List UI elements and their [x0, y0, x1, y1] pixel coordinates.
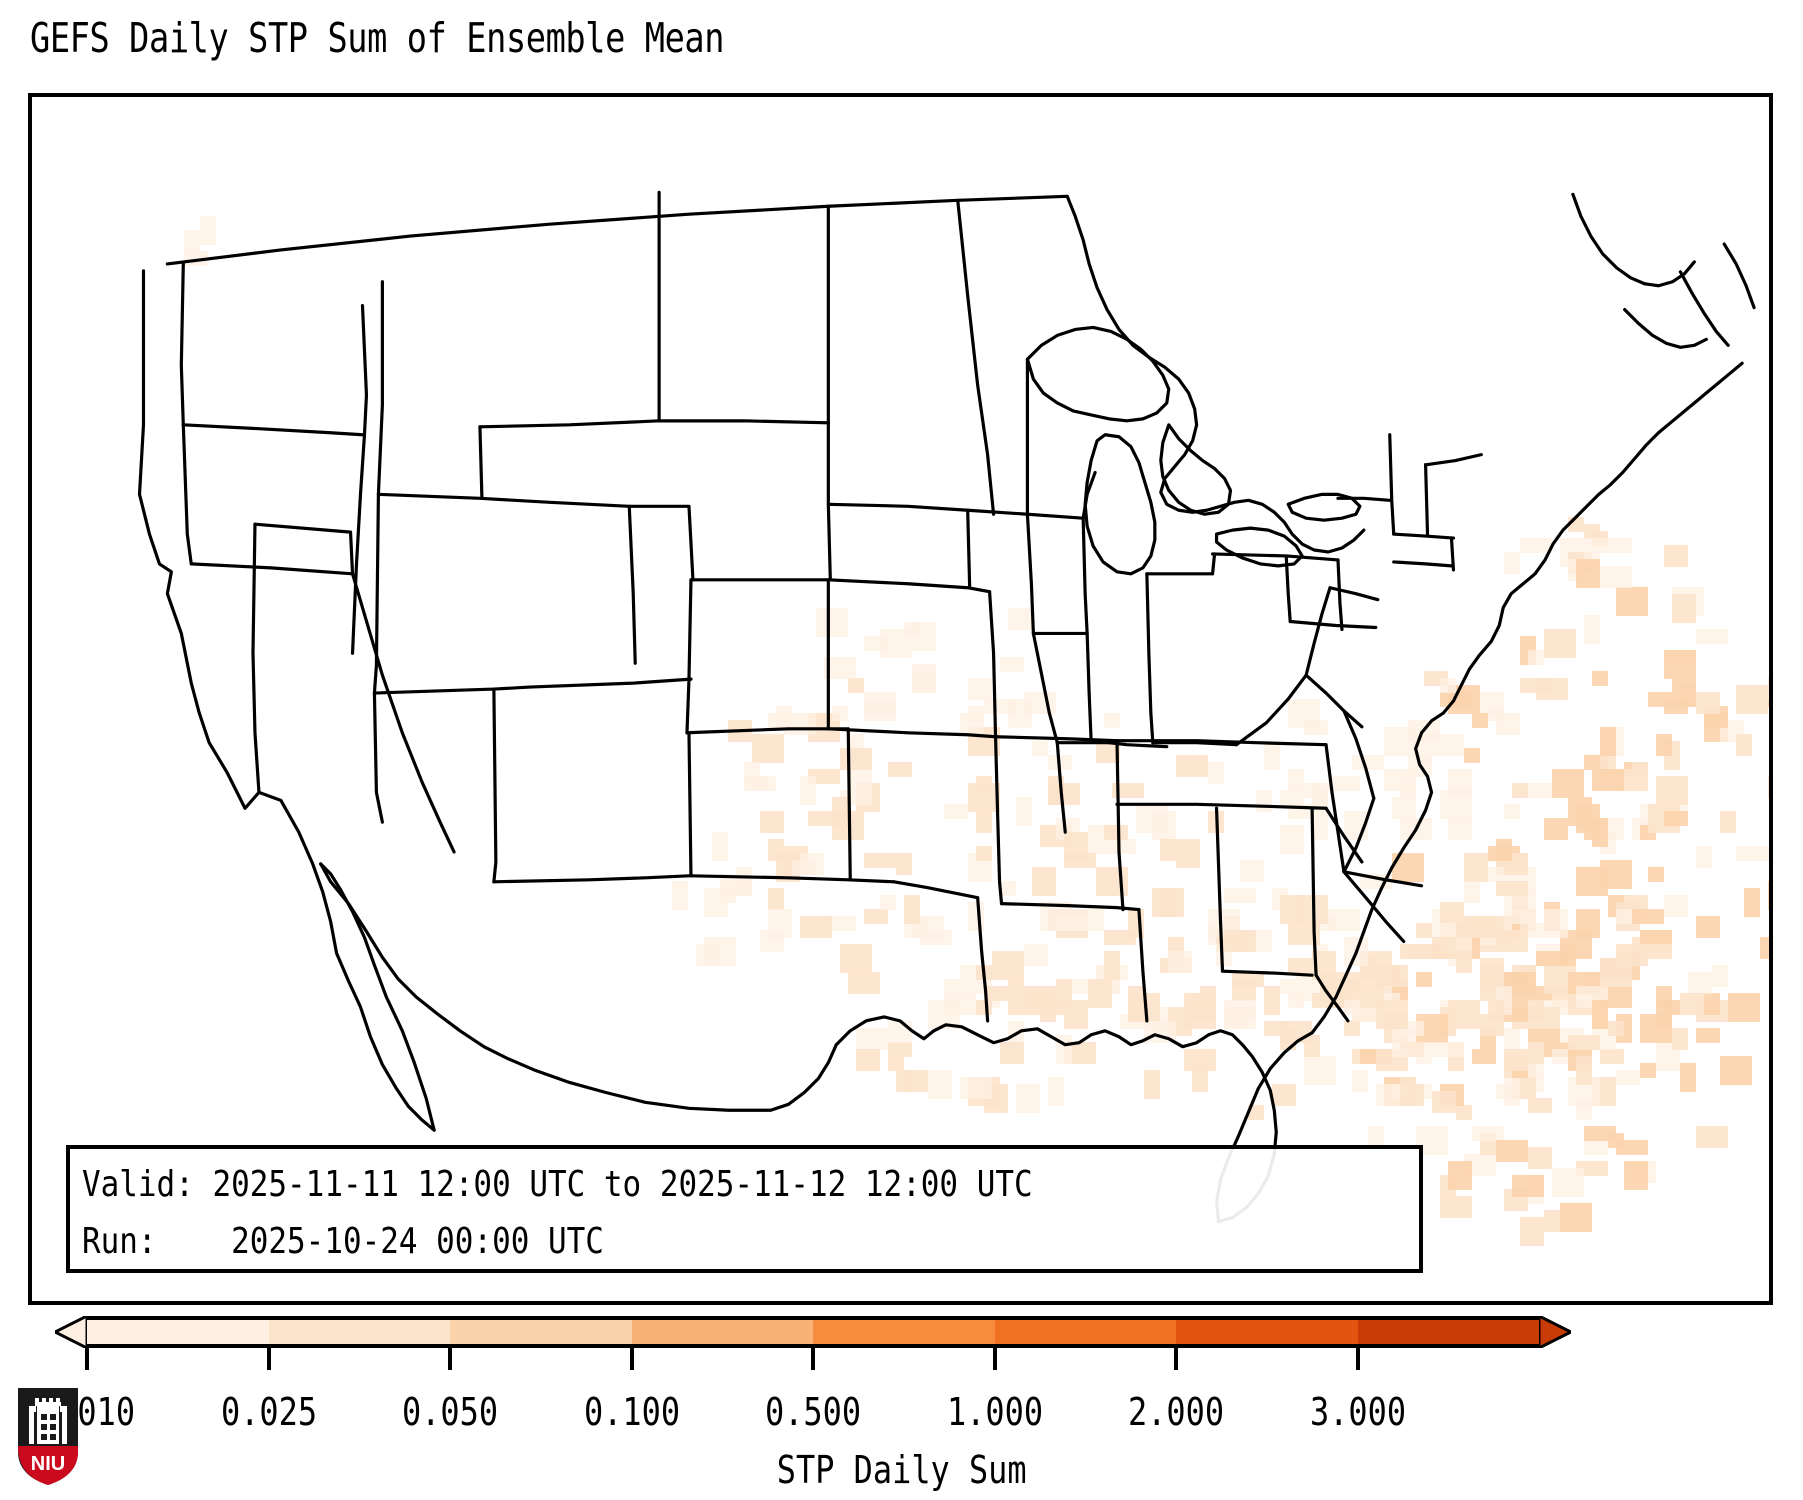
colorbar-tick-0	[85, 1348, 89, 1370]
colorbar-tick-6	[1174, 1348, 1178, 1370]
colorbar-band-3	[632, 1320, 814, 1344]
niu-logo-text: NIU	[31, 1453, 65, 1475]
colorbar-tick-label-1: 0.025	[220, 1390, 316, 1434]
colorbar-tick-label-4: 0.500	[765, 1390, 861, 1434]
colorbar-tick-1	[267, 1348, 271, 1370]
colorbar-tick-3	[630, 1348, 634, 1370]
colorbar-tick-label-7: 3.000	[1309, 1390, 1405, 1434]
page-title: GEFS Daily STP Sum of Ensemble Mean	[30, 14, 724, 62]
colorbar-band-4	[813, 1320, 995, 1344]
colorbar-axis-label: STP Daily Sum	[0, 1448, 1803, 1492]
colorbar-max-arrow	[1539, 1316, 1571, 1348]
colorbar-min-arrow	[55, 1316, 87, 1348]
colorbar	[0, 1316, 1803, 1376]
colorbar-band-1	[269, 1320, 451, 1344]
colorbar-ticks	[0, 1348, 1803, 1372]
colorbar-tick-5	[993, 1348, 997, 1370]
colorbar-tick-label-5: 1.000	[946, 1390, 1042, 1434]
colorbar-gradient	[87, 1316, 1539, 1348]
colorbar-band-7	[1358, 1320, 1540, 1344]
colorbar-tick-labels: 0.0100.0250.0500.1000.5001.0002.0003.000	[0, 1390, 1803, 1440]
colorbar-tick-4	[811, 1348, 815, 1370]
colorbar-tick-7	[1356, 1348, 1360, 1370]
colorbar-tick-label-2: 0.050	[402, 1390, 498, 1434]
colorbar-band-2	[450, 1320, 632, 1344]
valid-time-line: Valid: 2025-11-11 12:00 UTC to 2025-11-1…	[82, 1156, 1232, 1213]
map-frame	[28, 93, 1773, 1305]
map-geography	[32, 97, 1769, 1301]
colorbar-tick-label-3: 0.100	[583, 1390, 679, 1434]
run-time-line: Run: 2025-10-24 00:00 UTC	[82, 1213, 1232, 1270]
colorbar-band-5	[995, 1320, 1177, 1344]
colorbar-band-6	[1176, 1320, 1358, 1344]
niu-logo: NIU	[16, 1386, 80, 1486]
colorbar-tick-label-6: 2.000	[1128, 1390, 1224, 1434]
colorbar-band-0	[87, 1320, 269, 1344]
forecast-info-box: Valid: 2025-11-11 12:00 UTC to 2025-11-1…	[66, 1145, 1423, 1273]
colorbar-tick-2	[448, 1348, 452, 1370]
colorbar-axis-label-text: STP Daily Sum	[777, 1448, 1027, 1492]
